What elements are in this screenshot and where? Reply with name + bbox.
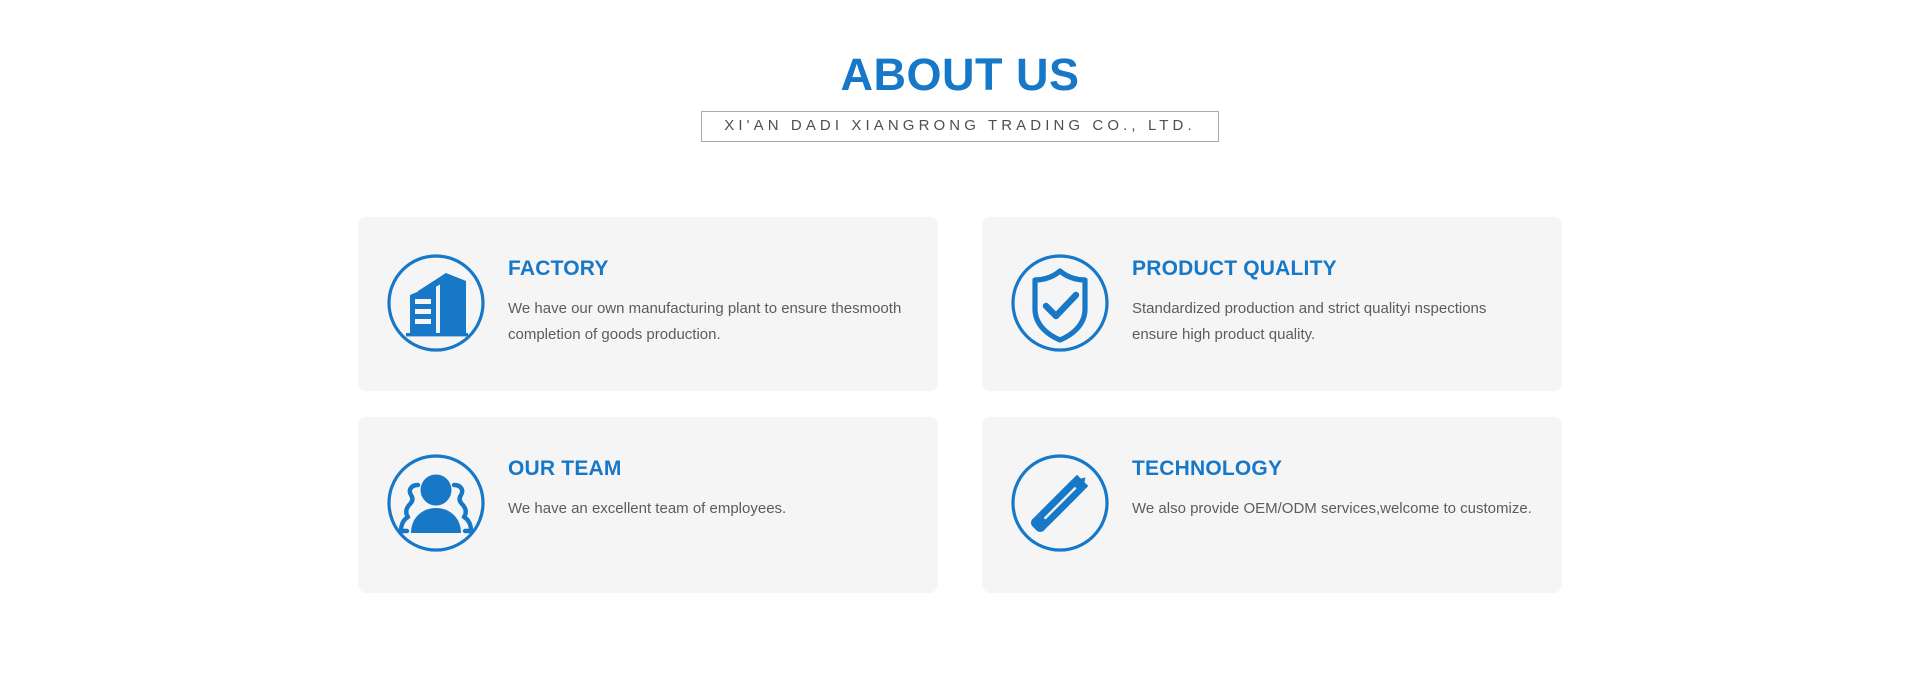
card-body: PRODUCT QUALITY Standardized production … (1132, 239, 1536, 348)
card-description: Standardized production and strict quali… (1132, 296, 1536, 348)
feature-card-product-quality[interactable]: PRODUCT QUALITY Standardized production … (982, 217, 1562, 391)
company-name-box: XI'AN DADI XIANGRONG TRADING CO., LTD. (701, 111, 1218, 142)
card-title: OUR TEAM (508, 457, 912, 480)
card-body: FACTORY We have our own manufacturing pl… (508, 239, 912, 348)
feature-card-factory[interactable]: FACTORY We have our own manufacturing pl… (358, 217, 938, 391)
card-title: FACTORY (508, 257, 912, 280)
company-name-wrap: XI'AN DADI XIANGRONG TRADING CO., LTD. (0, 111, 1920, 142)
card-title: TECHNOLOGY (1132, 457, 1536, 480)
company-name-text: XI'AN DADI XIANGRONG TRADING CO., LTD. (724, 117, 1195, 134)
feature-cards-grid: FACTORY We have our own manufacturing pl… (358, 217, 1562, 593)
page-header: ABOUT US XI'AN DADI XIANGRONG TRADING CO… (0, 0, 1920, 142)
card-row-bottom: OUR TEAM We have an excellent team of em… (358, 417, 1562, 593)
card-description: We also provide OEM/ODM services,welcome… (1132, 496, 1536, 522)
card-description: We have our own manufacturing plant to e… (508, 296, 912, 348)
people-group-icon (382, 449, 490, 557)
card-body: TECHNOLOGY We also provide OEM/ODM servi… (1132, 439, 1536, 522)
card-title: PRODUCT QUALITY (1132, 257, 1536, 280)
page-title: ABOUT US (0, 52, 1920, 97)
feature-card-our-team[interactable]: OUR TEAM We have an excellent team of em… (358, 417, 938, 593)
feature-card-technology[interactable]: TECHNOLOGY We also provide OEM/ODM servi… (982, 417, 1562, 593)
card-body: OUR TEAM We have an excellent team of em… (508, 439, 912, 522)
about-us-page: ABOUT US XI'AN DADI XIANGRONG TRADING CO… (0, 0, 1920, 694)
factory-building-icon (382, 249, 490, 357)
card-description: We have an excellent team of employees. (508, 496, 912, 522)
card-row-top: FACTORY We have our own manufacturing pl… (358, 217, 1562, 391)
shield-check-icon (1006, 249, 1114, 357)
pencil-ruler-icon (1006, 449, 1114, 557)
